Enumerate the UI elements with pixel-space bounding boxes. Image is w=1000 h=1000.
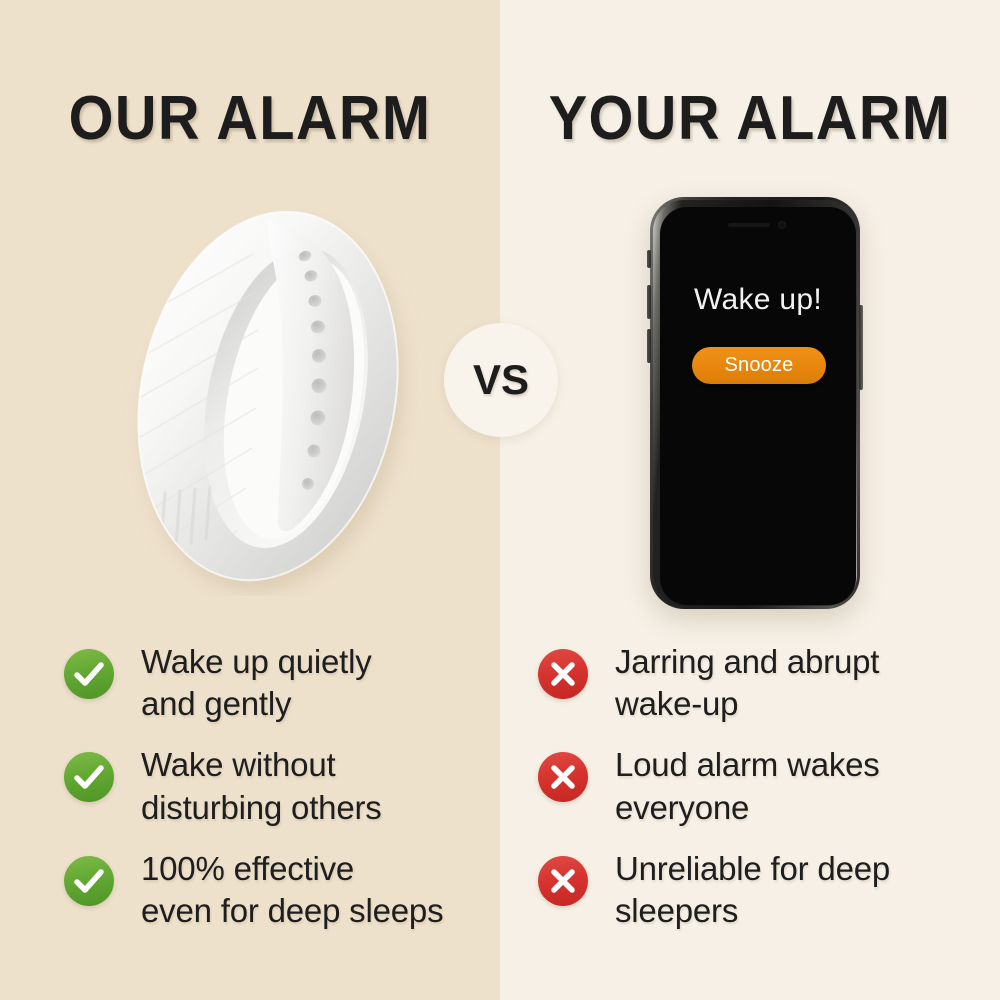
vs-badge: VS	[444, 323, 558, 437]
cross-icon	[538, 752, 588, 802]
list-item-line: disturbing others	[141, 787, 382, 829]
list-item: Unreliable for deep sleepers	[538, 848, 978, 932]
list-item-line: everyone	[615, 787, 880, 829]
check-glyph	[64, 649, 114, 699]
list-item-text: Wake up quietly and gently	[141, 641, 372, 725]
wristband-icon	[118, 196, 418, 596]
list-item-line: Wake without	[141, 744, 382, 786]
list-item-line: and gently	[141, 683, 372, 725]
list-item: 100% effective even for deep sleeps	[64, 848, 504, 932]
power-button[interactable]	[859, 305, 863, 390]
left-feature-list: Wake up quietly and gently Wake without …	[64, 641, 504, 951]
vs-label: VS	[473, 356, 529, 404]
smartphone-mockup: Wake up! Snooze	[650, 197, 860, 609]
cross-glyph	[538, 856, 588, 906]
check-glyph	[64, 752, 114, 802]
list-item-text: Jarring and abrupt wake-up	[615, 641, 879, 725]
phone-screen: Wake up! Snooze	[660, 207, 856, 605]
list-item: Jarring and abrupt wake-up	[538, 641, 978, 725]
right-feature-list: Jarring and abrupt wake-up Loud alarm wa…	[538, 641, 978, 951]
snooze-button[interactable]: Snooze	[692, 347, 826, 384]
volume-down-button[interactable]	[647, 329, 651, 363]
list-item-line: Jarring and abrupt	[615, 641, 879, 683]
list-item-line: Loud alarm wakes	[615, 744, 880, 786]
phone-frame: Wake up! Snooze	[653, 200, 857, 606]
list-item-text: 100% effective even for deep sleeps	[141, 848, 443, 932]
wristband-product-image	[118, 196, 418, 596]
list-item-line: even for deep sleeps	[141, 890, 443, 932]
silent-switch-button[interactable]	[647, 250, 651, 268]
list-item-line: 100% effective	[141, 848, 443, 890]
cross-glyph	[538, 649, 588, 699]
cross-glyph	[538, 752, 588, 802]
check-icon	[64, 649, 114, 699]
snooze-button-label: Snooze	[724, 354, 793, 377]
cross-icon	[538, 856, 588, 906]
list-item-text: Loud alarm wakes everyone	[615, 744, 880, 828]
list-item: Wake without disturbing others	[64, 744, 504, 828]
comparison-infographic: OUR ALARM YOUR ALARM	[0, 0, 1000, 1000]
list-item-line: sleepers	[615, 890, 890, 932]
check-icon	[64, 856, 114, 906]
list-item-line: wake-up	[615, 683, 879, 725]
left-panel-heading: OUR ALARM	[18, 88, 483, 150]
list-item-line: Wake up quietly	[141, 641, 372, 683]
front-camera-icon	[778, 221, 786, 229]
list-item: Loud alarm wakes everyone	[538, 744, 978, 828]
alarm-title: Wake up!	[660, 283, 856, 317]
cross-icon	[538, 649, 588, 699]
list-item-text: Unreliable for deep sleepers	[615, 848, 890, 932]
list-item-line: Unreliable for deep	[615, 848, 890, 890]
volume-up-button[interactable]	[647, 285, 651, 319]
check-glyph	[64, 856, 114, 906]
right-panel-heading: YOUR ALARM	[518, 88, 983, 150]
check-icon	[64, 752, 114, 802]
list-item-text: Wake without disturbing others	[141, 744, 382, 828]
speaker-slot-icon	[728, 223, 770, 227]
list-item: Wake up quietly and gently	[64, 641, 504, 725]
